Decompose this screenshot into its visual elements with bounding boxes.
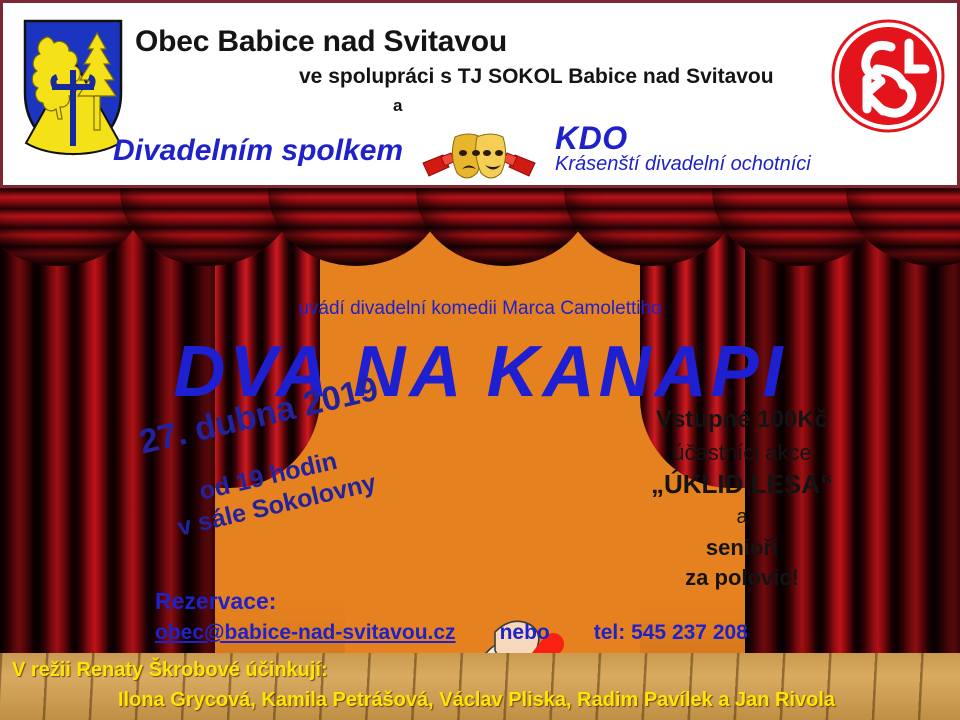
theatre-masks-icon: [421, 129, 537, 185]
coat-of-arms-icon: [21, 17, 125, 157]
director-line: V režii Renaty Škrobové účinkují:: [12, 659, 328, 682]
reservation-block: Rezervace: obec@babice-nad-svitavou.cz n…: [155, 588, 855, 645]
reservation-or: nebo: [500, 621, 550, 645]
society-name: KDO: [555, 120, 628, 157]
cast-line: Ilona Grycová, Kamila Petrášová, Václav …: [118, 689, 835, 712]
price-participants: účastníci akce: [618, 440, 866, 466]
price-seniors: senioři: [618, 535, 866, 561]
page-title: Obec Babice nad Svitavou: [135, 25, 507, 59]
cooperation-line: ve spolupráci s TJ SOKOL Babice nad Svit…: [299, 65, 774, 89]
reservation-label: Rezervace:: [155, 588, 855, 615]
price-admission: Vstupné 100Kč: [618, 406, 866, 434]
presents-line: uvádí divadelní komedii Marca Camolettih…: [0, 298, 960, 320]
price-and: a: [618, 506, 866, 529]
stage-floor: V režii Renaty Škrobové účinkují: Ilona …: [0, 653, 960, 720]
reservation-contacts: obec@babice-nad-svitavou.cz nebo tel: 54…: [155, 621, 855, 645]
society-subtitle: Krásenští divadelní ochotníci: [555, 153, 811, 176]
reservation-email-link[interactable]: obec@babice-nad-svitavou.cz: [155, 621, 456, 645]
sokol-logo-icon: [829, 17, 947, 135]
price-block: Vstupné 100Kč účastníci akce „ÚKLID LESA…: [618, 406, 866, 591]
reservation-phone[interactable]: tel: 545 237 208: [594, 621, 748, 645]
price-event-name: „ÚKLID LESA“: [618, 469, 866, 500]
poster-header: Obec Babice nad Svitavou ve spolupráci s…: [0, 0, 960, 188]
event-poster: Obec Babice nad Svitavou ve spolupráci s…: [0, 0, 960, 720]
phone-label: tel:: [594, 621, 626, 644]
society-prefix: Divadelním spolkem: [113, 134, 403, 168]
stage-area: uvádí divadelní komedii Marca Camolettih…: [0, 188, 960, 653]
phone-number: 545 237 208: [631, 621, 748, 644]
and-connector: a: [393, 96, 402, 116]
play-title: DVA NA KANAPI: [0, 331, 960, 413]
curtain-valance: [0, 188, 960, 293]
date-block: 27. dubna 2019 od 19 hodin v sále Sokolo…: [140, 406, 440, 556]
